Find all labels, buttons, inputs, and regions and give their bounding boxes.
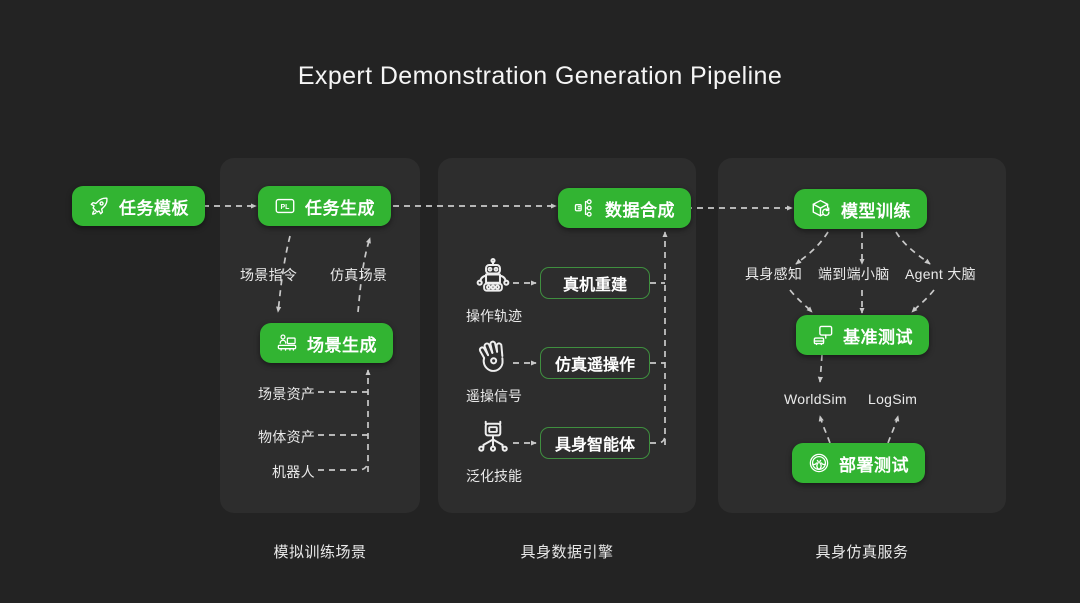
chip-benchmark-test[interactable]: 基准测试: [796, 315, 929, 355]
box-label: 具身智能体: [555, 431, 635, 455]
flow-label-simulated-scene: 仿真场景: [330, 265, 387, 285]
caption-simulation-training-scene: 模拟训练场景: [220, 541, 420, 562]
icon-label-operation-trajectory: 操作轨迹: [464, 306, 524, 326]
chip-label: 任务生成: [305, 194, 375, 219]
chip-scene-generation[interactable]: 场景生成: [260, 323, 393, 363]
box-embodied-agent[interactable]: 具身智能体: [540, 427, 650, 459]
stage-label-embodied-perception: 具身感知: [745, 264, 802, 284]
box-label: 仿真遥操作: [555, 351, 635, 375]
skill-node-icon: [474, 418, 512, 456]
flow-label-scene-instruction: 场景指令: [240, 265, 297, 285]
chip-deployment-test[interactable]: 部署测试: [792, 443, 925, 483]
cube-refresh-icon: [810, 198, 832, 220]
box-real-machine-reconstruction[interactable]: 真机重建: [540, 267, 650, 299]
chip-data-synthesis[interactable]: 数据合成: [558, 188, 691, 228]
chip-task-generation[interactable]: PL 任务生成: [258, 186, 391, 226]
chip-label: 任务模板: [119, 194, 189, 219]
page-title: Expert Demonstration Generation Pipeline: [0, 62, 1080, 91]
caption-embodied-simulation-service: 具身仿真服务: [718, 541, 1006, 562]
chip-label: 模型训练: [841, 197, 911, 222]
diagram-canvas: Expert Demonstration Generation Pipeline: [0, 0, 1080, 603]
chip-task-template[interactable]: 任务模板: [72, 186, 205, 226]
rocket-icon: [88, 195, 110, 217]
robot-icon: [474, 258, 512, 296]
input-label-robot: 机器人: [272, 462, 315, 482]
glove-icon: [474, 338, 512, 376]
svg-text:PL: PL: [281, 204, 291, 211]
chip-model-training[interactable]: 模型训练: [794, 189, 927, 229]
box-label: 真机重建: [563, 271, 627, 295]
chip-label: 场景生成: [307, 331, 377, 356]
deploy-globe-icon: [808, 452, 830, 474]
chip-label: 基准测试: [843, 323, 913, 348]
frame-pl-icon: PL: [274, 195, 296, 217]
benchmark-monitor-icon: [812, 324, 834, 346]
stage-label-agent-brain: Agent 大脑: [905, 264, 976, 284]
chip-label: 部署测试: [839, 451, 909, 476]
input-label-object-assets: 物体资产: [258, 427, 315, 447]
input-label-scene-assets: 场景资产: [258, 384, 315, 404]
stage-label-end-to-end-cerebellum: 端到端小脑: [818, 264, 890, 284]
box-simulated-teleoperation[interactable]: 仿真遥操作: [540, 347, 650, 379]
icon-label-generalized-skill: 泛化技能: [464, 466, 524, 486]
icon-label-teleop-signal: 遥操信号: [464, 386, 524, 406]
data-synthesis-icon: [574, 197, 596, 219]
sim-label-logsim: LogSim: [868, 391, 917, 407]
scene-builder-icon: [276, 332, 298, 354]
sim-label-worldsim: WorldSim: [784, 391, 847, 407]
caption-embodied-data-engine: 具身数据引擎: [438, 541, 696, 562]
chip-label: 数据合成: [605, 196, 675, 221]
